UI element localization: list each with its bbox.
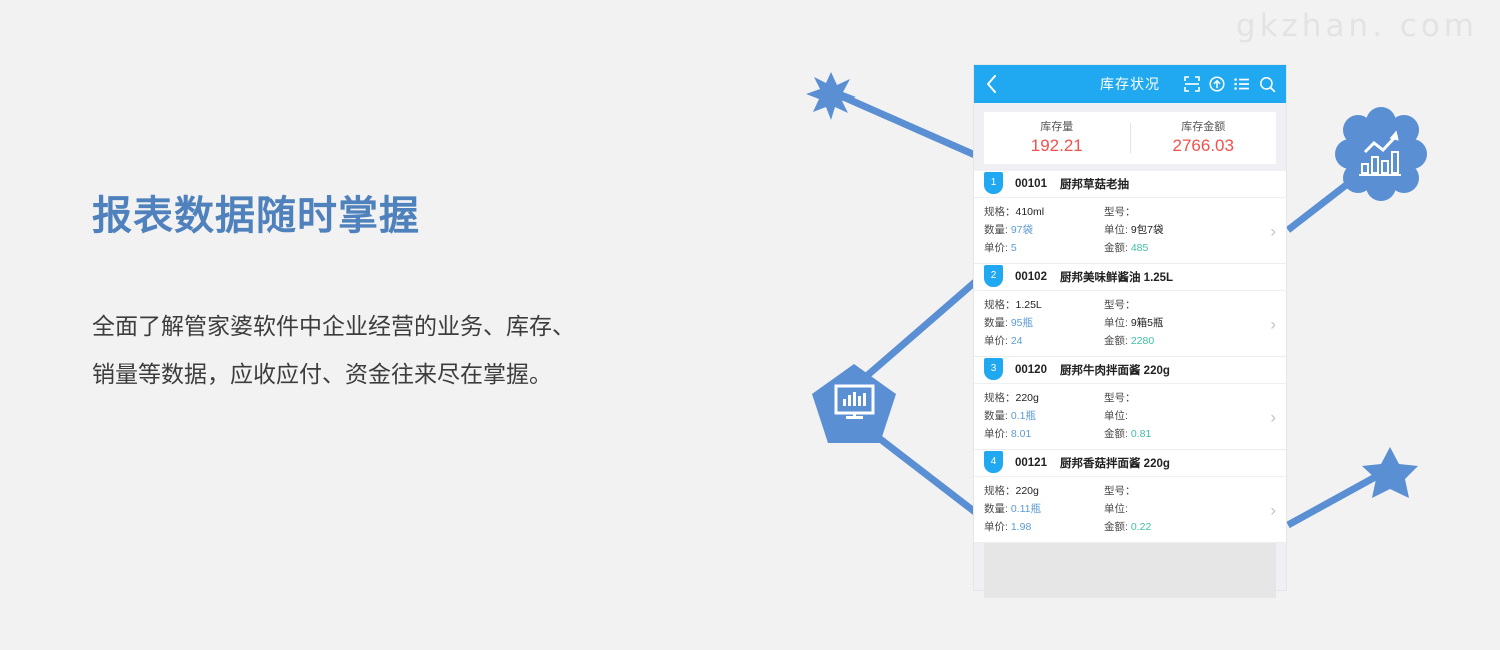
row-header: 4 00121 厨邦香菇拌面酱 220g bbox=[974, 450, 1286, 477]
label-price: 单价: bbox=[984, 335, 1008, 347]
label-qty: 数量: bbox=[984, 503, 1008, 515]
summary-value: 2766.03 bbox=[1131, 135, 1277, 157]
table-row[interactable]: 1 00101 厨邦草菇老抽 规格：410ml 数量: 97袋 单价: 5 型号… bbox=[974, 171, 1286, 264]
row-code: 00121 bbox=[1015, 457, 1047, 469]
site-watermark: gkzhan. com bbox=[1236, 8, 1478, 44]
row-header: 3 00120 厨邦牛肉拌面酱 220g bbox=[974, 357, 1286, 384]
value-spec: 220g bbox=[1016, 392, 1039, 404]
summary-label: 库存量 bbox=[984, 120, 1130, 135]
value-amount: 0.22 bbox=[1131, 521, 1151, 533]
label-spec: 规格： bbox=[984, 485, 1016, 497]
label-price: 单价: bbox=[984, 428, 1008, 440]
value-amount: 485 bbox=[1131, 242, 1149, 254]
promo-copy: 报表数据随时掌握 全面了解管家婆软件中企业经营的业务、库存、销量等数据，应收应付… bbox=[92, 192, 652, 398]
value-price: 5 bbox=[1011, 242, 1017, 254]
monitor-pentagon-icon bbox=[812, 364, 896, 443]
row-spec: 规格：220g bbox=[984, 482, 1104, 500]
app-header-actions bbox=[1184, 76, 1286, 93]
value-spec: 220g bbox=[1016, 485, 1039, 497]
back-button[interactable] bbox=[974, 75, 1008, 93]
connector-line-mid-lower bbox=[862, 425, 975, 512]
row-qty: 数量: 0.11瓶 bbox=[984, 500, 1104, 518]
row-index-badge: 1 bbox=[984, 172, 1003, 194]
search-icon[interactable] bbox=[1259, 76, 1276, 93]
row-amount: 金额: 2280 bbox=[1104, 332, 1234, 350]
summary-card: 库存量 192.21 库存金额 2766.03 bbox=[984, 112, 1276, 164]
chevron-left-icon bbox=[986, 75, 997, 93]
row-spec: 规格：410ml bbox=[984, 203, 1104, 221]
app-screen: 库存状况 bbox=[974, 65, 1286, 590]
upload-circle-icon[interactable] bbox=[1209, 76, 1225, 92]
value-price: 24 bbox=[1011, 335, 1023, 347]
label-spec: 规格： bbox=[984, 392, 1016, 404]
connector-line-bottom-right bbox=[1288, 470, 1388, 525]
page-root: gkzhan. com 报表数据随时掌握 全面了解管家婆软件中企业经营的业务、库… bbox=[0, 0, 1500, 650]
label-qty: 数量: bbox=[984, 410, 1008, 422]
row-col-right: 型号： 单位: 金额: 0.81 bbox=[1104, 389, 1234, 443]
label-price: 单价: bbox=[984, 242, 1008, 254]
value-qty: 0.11瓶 bbox=[1011, 503, 1041, 515]
chart-badge-icon bbox=[1335, 107, 1427, 201]
row-unit: 单位: bbox=[1104, 500, 1234, 518]
summary-cell-amount: 库存金额 2766.03 bbox=[1131, 120, 1277, 157]
spark-icon bbox=[806, 72, 856, 120]
row-code: 00120 bbox=[1015, 364, 1047, 376]
row-qty: 数量: 97袋 bbox=[984, 221, 1104, 239]
list-footer-space bbox=[984, 543, 1276, 598]
row-col-left: 规格：220g 数量: 0.11瓶 单价: 1.98 bbox=[984, 482, 1104, 536]
row-body: 规格：410ml 数量: 97袋 单价: 5 型号： 单位: 9包7袋 金额: … bbox=[974, 198, 1286, 263]
value-spec: 1.25L bbox=[1016, 299, 1042, 311]
list-icon[interactable] bbox=[1234, 76, 1250, 92]
label-qty: 数量: bbox=[984, 224, 1008, 236]
row-qty: 数量: 0.1瓶 bbox=[984, 407, 1104, 425]
label-amount: 金额: bbox=[1104, 335, 1128, 347]
label-spec: 规格： bbox=[984, 299, 1016, 311]
row-product-name: 厨邦草菇老抽 bbox=[1060, 176, 1129, 192]
row-col-right: 型号： 单位: 9包7袋 金额: 485 bbox=[1104, 203, 1234, 257]
row-model: 型号： bbox=[1104, 203, 1234, 221]
label-spec: 规格： bbox=[984, 206, 1016, 218]
row-index-badge: 2 bbox=[984, 265, 1003, 287]
value-amount: 2280 bbox=[1131, 335, 1154, 347]
row-index-badge: 4 bbox=[984, 451, 1003, 473]
row-code: 00101 bbox=[1015, 178, 1047, 190]
row-product-name: 厨邦香菇拌面酱 220g bbox=[1060, 455, 1170, 471]
scan-icon[interactable] bbox=[1184, 76, 1200, 92]
row-col-right: 型号： 单位: 金额: 0.22 bbox=[1104, 482, 1234, 536]
label-unit: 单位: bbox=[1104, 317, 1128, 329]
label-model: 型号： bbox=[1104, 392, 1136, 404]
row-price: 单价: 8.01 bbox=[984, 425, 1104, 443]
value-unit: 9箱5瓶 bbox=[1131, 317, 1164, 329]
row-product-name: 厨邦美味鲜酱油 1.25L bbox=[1060, 269, 1173, 285]
value-amount: 0.81 bbox=[1131, 428, 1151, 440]
summary-value: 192.21 bbox=[984, 135, 1130, 157]
label-qty: 数量: bbox=[984, 317, 1008, 329]
value-unit: 9包7袋 bbox=[1131, 224, 1164, 236]
row-amount: 金额: 0.22 bbox=[1104, 518, 1234, 536]
page-title: 报表数据随时掌握 bbox=[92, 192, 652, 240]
summary-cell-quantity: 库存量 192.21 bbox=[984, 120, 1130, 157]
connector-line-top-right bbox=[1288, 165, 1372, 230]
row-col-left: 规格：1.25L 数量: 95瓶 单价: 24 bbox=[984, 296, 1104, 350]
label-amount: 金额: bbox=[1104, 428, 1128, 440]
row-amount: 金额: 485 bbox=[1104, 239, 1234, 257]
row-product-name: 厨邦牛肉拌面酱 220g bbox=[1060, 362, 1170, 378]
row-qty: 数量: 95瓶 bbox=[984, 314, 1104, 332]
label-amount: 金额: bbox=[1104, 521, 1128, 533]
inventory-list: 1 00101 厨邦草菇老抽 规格：410ml 数量: 97袋 单价: 5 型号… bbox=[974, 171, 1286, 543]
row-amount: 金额: 0.81 bbox=[1104, 425, 1234, 443]
row-model: 型号： bbox=[1104, 296, 1234, 314]
value-qty: 97袋 bbox=[1011, 224, 1033, 236]
label-price: 单价: bbox=[984, 521, 1008, 533]
row-price: 单价: 1.98 bbox=[984, 518, 1104, 536]
chevron-right-icon[interactable]: › bbox=[1270, 315, 1276, 332]
value-price: 1.98 bbox=[1011, 521, 1031, 533]
label-model: 型号： bbox=[1104, 206, 1136, 218]
row-header: 1 00101 厨邦草菇老抽 bbox=[974, 171, 1286, 198]
row-unit: 单位: bbox=[1104, 407, 1234, 425]
row-body: 规格：220g 数量: 0.1瓶 单价: 8.01 型号： 单位: 金额: 0.… bbox=[974, 384, 1286, 449]
table-row[interactable]: 2 00102 厨邦美味鲜酱油 1.25L 规格：1.25L 数量: 95瓶 单… bbox=[974, 264, 1286, 357]
row-col-right: 型号： 单位: 9箱5瓶 金额: 2280 bbox=[1104, 296, 1234, 350]
connector-line-top-left bbox=[832, 92, 975, 155]
row-model: 型号： bbox=[1104, 389, 1234, 407]
table-row[interactable]: 4 00121 厨邦香菇拌面酱 220g 规格：220g 数量: 0.11瓶 单… bbox=[974, 450, 1286, 543]
promo-description: 全面了解管家婆软件中企业经营的业务、库存、销量等数据，应收应付、资金往来尽在掌握… bbox=[92, 302, 592, 398]
value-qty: 0.1瓶 bbox=[1011, 410, 1036, 422]
chevron-right-icon[interactable]: › bbox=[1270, 501, 1276, 518]
summary-label: 库存金额 bbox=[1131, 120, 1277, 135]
row-col-left: 规格：220g 数量: 0.1瓶 单价: 8.01 bbox=[984, 389, 1104, 443]
row-unit: 单位: 9箱5瓶 bbox=[1104, 314, 1234, 332]
value-price: 8.01 bbox=[1011, 428, 1031, 440]
row-spec: 规格：1.25L bbox=[984, 296, 1104, 314]
row-code: 00102 bbox=[1015, 271, 1047, 283]
chevron-right-icon[interactable]: › bbox=[1270, 408, 1276, 425]
value-spec: 410ml bbox=[1016, 206, 1045, 218]
label-model: 型号： bbox=[1104, 299, 1136, 311]
row-model: 型号： bbox=[1104, 482, 1234, 500]
row-col-left: 规格：410ml 数量: 97袋 单价: 5 bbox=[984, 203, 1104, 257]
row-unit: 单位: 9包7袋 bbox=[1104, 221, 1234, 239]
label-unit: 单位: bbox=[1104, 503, 1128, 515]
row-index-badge: 3 bbox=[984, 358, 1003, 380]
row-price: 单价: 5 bbox=[984, 239, 1104, 257]
row-body: 规格：220g 数量: 0.11瓶 单价: 1.98 型号： 单位: 金额: 0… bbox=[974, 477, 1286, 542]
app-header: 库存状况 bbox=[974, 65, 1286, 103]
value-qty: 95瓶 bbox=[1011, 317, 1033, 329]
row-spec: 规格：220g bbox=[984, 389, 1104, 407]
row-body: 规格：1.25L 数量: 95瓶 单价: 24 型号： 单位: 9箱5瓶 金额:… bbox=[974, 291, 1286, 356]
connector-line-mid-upper bbox=[862, 282, 975, 380]
label-unit: 单位: bbox=[1104, 224, 1128, 236]
star-icon bbox=[1362, 447, 1418, 498]
row-price: 单价: 24 bbox=[984, 332, 1104, 350]
label-unit: 单位: bbox=[1104, 410, 1128, 422]
row-header: 2 00102 厨邦美味鲜酱油 1.25L bbox=[974, 264, 1286, 291]
label-model: 型号： bbox=[1104, 485, 1136, 497]
chevron-right-icon[interactable]: › bbox=[1270, 222, 1276, 239]
label-amount: 金额: bbox=[1104, 242, 1128, 254]
table-row[interactable]: 3 00120 厨邦牛肉拌面酱 220g 规格：220g 数量: 0.1瓶 单价… bbox=[974, 357, 1286, 450]
